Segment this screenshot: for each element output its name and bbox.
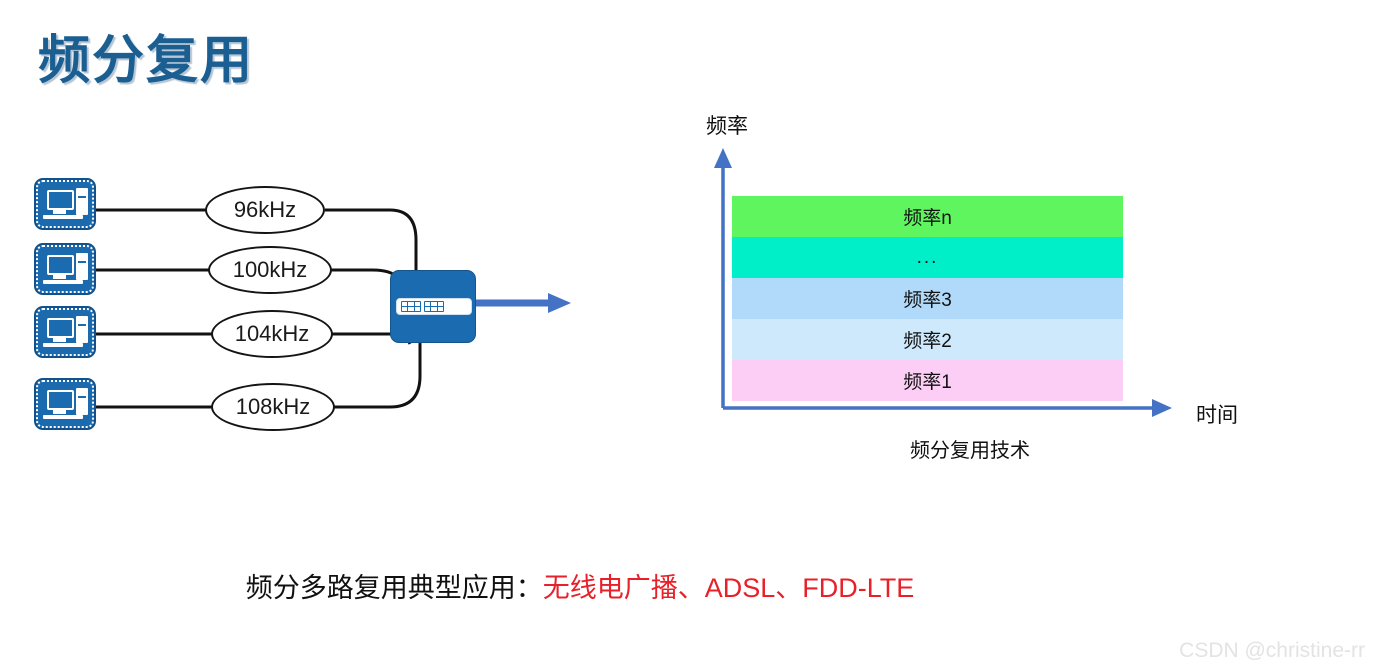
slide-canvas: 频分复用	[0, 0, 1379, 671]
monitor-stand	[53, 410, 66, 414]
computer-icon	[36, 180, 94, 228]
band-label: 频率2	[903, 326, 952, 353]
channel-label: 108kHz	[236, 394, 311, 420]
monitor-screen	[47, 390, 74, 410]
port-group-2	[424, 301, 444, 312]
band-label: 频率3	[903, 285, 952, 312]
channel-ellipse-108khz: 108kHz	[211, 383, 335, 431]
monitor-screen	[47, 190, 74, 210]
pc-tower	[76, 188, 88, 215]
channel-ellipse-100khz: 100kHz	[208, 246, 332, 294]
pc-tower-slot	[78, 396, 86, 398]
monitor-stand	[53, 338, 66, 342]
band-label: 频率n	[903, 203, 952, 230]
monitor-base	[43, 215, 83, 219]
application-note-prefix: 频分多路复用典型应用：	[246, 573, 543, 603]
channel-label: 104kHz	[235, 321, 310, 347]
application-note: 频分多路复用典型应用：无线电广播、ADSL、FDD-LTE	[0, 566, 1160, 605]
channel-ellipse-104khz: 104kHz	[211, 310, 333, 358]
computer-icon	[36, 380, 94, 428]
pc-tower	[76, 388, 88, 415]
chart-caption: 频分复用技术	[690, 434, 1250, 463]
switch-port-strip	[396, 298, 472, 315]
fdm-input-diagram: 96kHz 100kHz 104kHz 108kHz	[0, 0, 620, 470]
watermark: CSDN @christine-rr	[1179, 639, 1365, 663]
frequency-band-ellipsis: ...	[732, 237, 1123, 278]
frequency-band-1: 频率1	[732, 360, 1123, 401]
monitor-stand	[53, 210, 66, 214]
channel-label: 96kHz	[234, 197, 296, 223]
port-group-1	[401, 301, 421, 312]
application-note-list: 无线电广播、ADSL、FDD-LTE	[543, 573, 915, 603]
pc-tower-slot	[78, 196, 86, 198]
fdm-frequency-time-chart: 频率 时间 频率n ... 频率3 频率2 频率1 频分复用技术	[690, 100, 1310, 470]
y-axis-label: 频率	[706, 110, 748, 140]
frequency-band-2: 频率2	[732, 319, 1123, 360]
monitor-screen	[47, 255, 74, 275]
frequency-band-n: 频率n	[732, 196, 1123, 237]
frequency-band-3: 频率3	[732, 278, 1123, 319]
monitor-stand	[53, 275, 66, 279]
monitor-base	[43, 280, 83, 284]
frequency-band-stack: 频率n ... 频率3 频率2 频率1	[732, 196, 1123, 401]
channel-ellipse-96khz: 96kHz	[205, 186, 325, 234]
monitor-base	[43, 343, 83, 347]
pc-tower-slot	[78, 324, 86, 326]
pc-tower	[76, 316, 88, 343]
pc-tower-slot	[78, 261, 86, 263]
x-axis-label: 时间	[1196, 399, 1238, 429]
multiplexer-device-icon	[390, 270, 476, 343]
pc-tower	[76, 253, 88, 280]
monitor-base	[43, 415, 83, 419]
band-label: 频率1	[903, 367, 952, 394]
computer-icon	[36, 245, 94, 293]
band-label: ...	[917, 247, 939, 269]
channel-label: 100kHz	[233, 257, 308, 283]
computer-icon	[36, 308, 94, 356]
monitor-screen	[47, 318, 74, 338]
